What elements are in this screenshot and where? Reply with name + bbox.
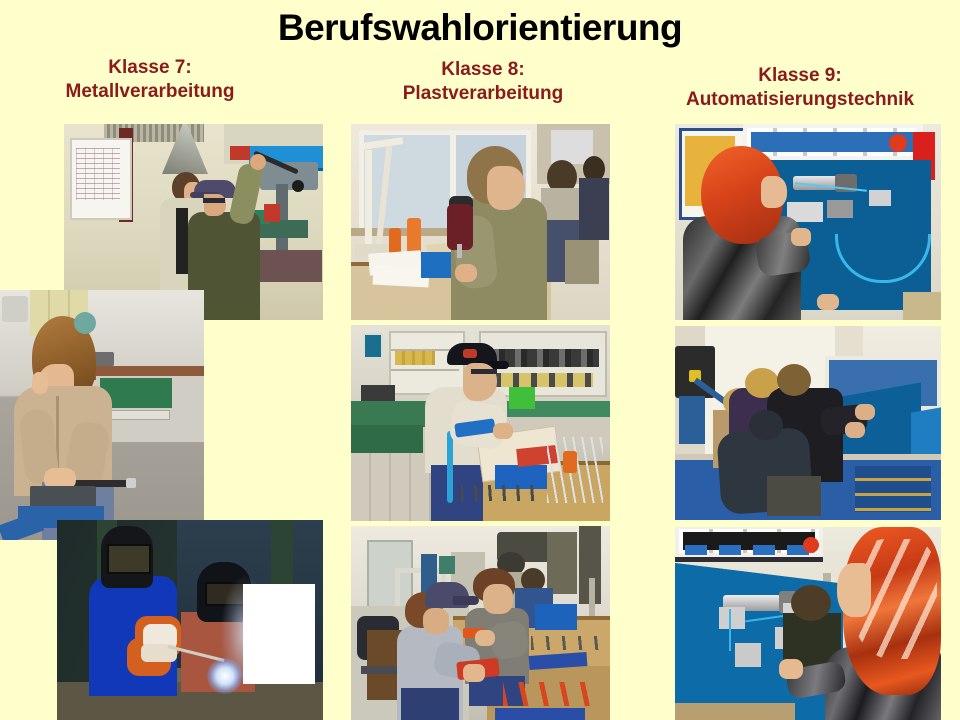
mounting-bracket-1 <box>719 607 745 629</box>
page-title: Berufswahlorientierung <box>0 6 960 50</box>
module-blue-strips <box>685 545 813 555</box>
slide-canvas: Berufswahlorientierung Klasse 7: Metallv… <box>0 0 960 720</box>
welder-a-visor <box>107 544 151 574</box>
glue-bottle-small <box>389 228 401 254</box>
shelf-left-divider-2 <box>391 369 459 371</box>
student-a-face <box>423 608 449 634</box>
student-hand-upper <box>32 372 48 394</box>
student-b-head <box>777 364 811 396</box>
lamp-stand-a <box>365 150 372 246</box>
red-switch-box <box>230 146 250 160</box>
vise-jaws <box>30 486 96 508</box>
bench-drawers <box>855 466 931 512</box>
cap-logo <box>463 349 477 358</box>
paint-cans <box>395 351 435 365</box>
student-face <box>837 563 871 617</box>
student-face <box>761 176 787 208</box>
blue-clamp-1 <box>421 252 453 278</box>
student-hand-lower <box>817 294 839 310</box>
student-hand <box>493 423 513 439</box>
shelf-tools-row-2 <box>483 373 593 387</box>
student-b-hand-lower <box>845 422 865 438</box>
chair <box>565 240 599 284</box>
welding-arc-flash <box>207 658 243 694</box>
side-desk <box>903 292 941 320</box>
student-d-legs <box>767 476 821 516</box>
column-heading-line1: Klasse 7: <box>0 56 300 80</box>
student-b-hand-upper <box>855 404 875 420</box>
student-d-head <box>749 410 783 440</box>
photo-klasse9-pneumatic-board <box>675 124 941 320</box>
file-handle <box>126 478 136 488</box>
glue-bottle-orange <box>407 218 421 252</box>
column-heading-line1: Klasse 8: <box>338 58 628 82</box>
workshop-door <box>367 540 413 608</box>
orange-bottle <box>563 451 577 473</box>
background-student-2-body <box>579 178 609 240</box>
hair-tie <box>74 312 96 334</box>
files-on-bench <box>531 636 601 650</box>
emergency-stop-button <box>889 134 907 152</box>
background-student-head <box>791 585 831 621</box>
column-heading-klasse-8: Klasse 8: Plastverarbeitung <box>338 58 628 106</box>
red-tools-on-bench <box>503 682 599 706</box>
welding-sparks <box>243 584 315 684</box>
column-heading-klasse-7: Klasse 7: Metallverarbeitung <box>0 56 300 104</box>
left-machine-body <box>679 396 705 444</box>
photo-klasse9-closeup-tubing <box>675 527 941 720</box>
column-heading-line2: Metallverarbeitung <box>0 80 300 104</box>
sink <box>2 296 28 322</box>
photo-klasse8-hand-drill <box>351 124 610 320</box>
drill-lever-knob <box>292 180 304 192</box>
green-machine <box>509 387 535 409</box>
student-hand <box>455 264 477 282</box>
student-b-face <box>483 584 513 614</box>
mounting-bracket-3 <box>735 643 761 667</box>
column-heading-klasse-9: Klasse 9: Automatisierungstechnik <box>640 64 960 112</box>
photo-klasse8-students-sawing <box>351 526 610 720</box>
student-b-hand <box>250 154 266 170</box>
handrail-post-1 <box>395 572 400 608</box>
student-hand-upper <box>791 228 811 246</box>
student-a-trousers <box>401 688 459 720</box>
column-heading-line2: Automatisierungstechnik <box>640 88 960 112</box>
column-heading-line1: Klasse 9: <box>640 64 960 88</box>
blue-tray-front <box>495 708 585 720</box>
floor <box>675 703 795 720</box>
machine-column <box>547 532 577 594</box>
emergency-stop-button <box>803 537 819 553</box>
air-tube-1 <box>729 609 731 651</box>
green-box <box>439 556 455 574</box>
student-b-hand <box>475 630 495 646</box>
column-heading-line2: Plastverarbeitung <box>338 82 628 106</box>
photo-klasse7-welding <box>57 520 323 720</box>
student-a-cap-brim <box>453 596 479 605</box>
student-a-strap <box>176 208 188 274</box>
student-face <box>487 166 525 210</box>
photo-klasse9-group-workstations <box>675 326 941 520</box>
drill-bit <box>457 244 462 258</box>
student-a-hand <box>463 664 485 682</box>
photo-klasse8-workbench-cap <box>351 325 610 521</box>
whiteboard-drawing <box>76 148 120 200</box>
blue-tool-case <box>535 604 577 630</box>
safety-glasses <box>203 198 225 203</box>
photo-klasse7-filing-vise <box>0 290 204 540</box>
student-glasses <box>471 369 497 374</box>
red-tool <box>264 204 280 222</box>
valve-2 <box>827 200 853 218</box>
blue-air-hose <box>447 431 453 503</box>
wall-display <box>363 333 383 359</box>
chisels-on-table <box>461 485 541 501</box>
valve-3 <box>869 190 891 206</box>
left-workbench <box>351 401 427 427</box>
student-hand <box>779 659 803 679</box>
